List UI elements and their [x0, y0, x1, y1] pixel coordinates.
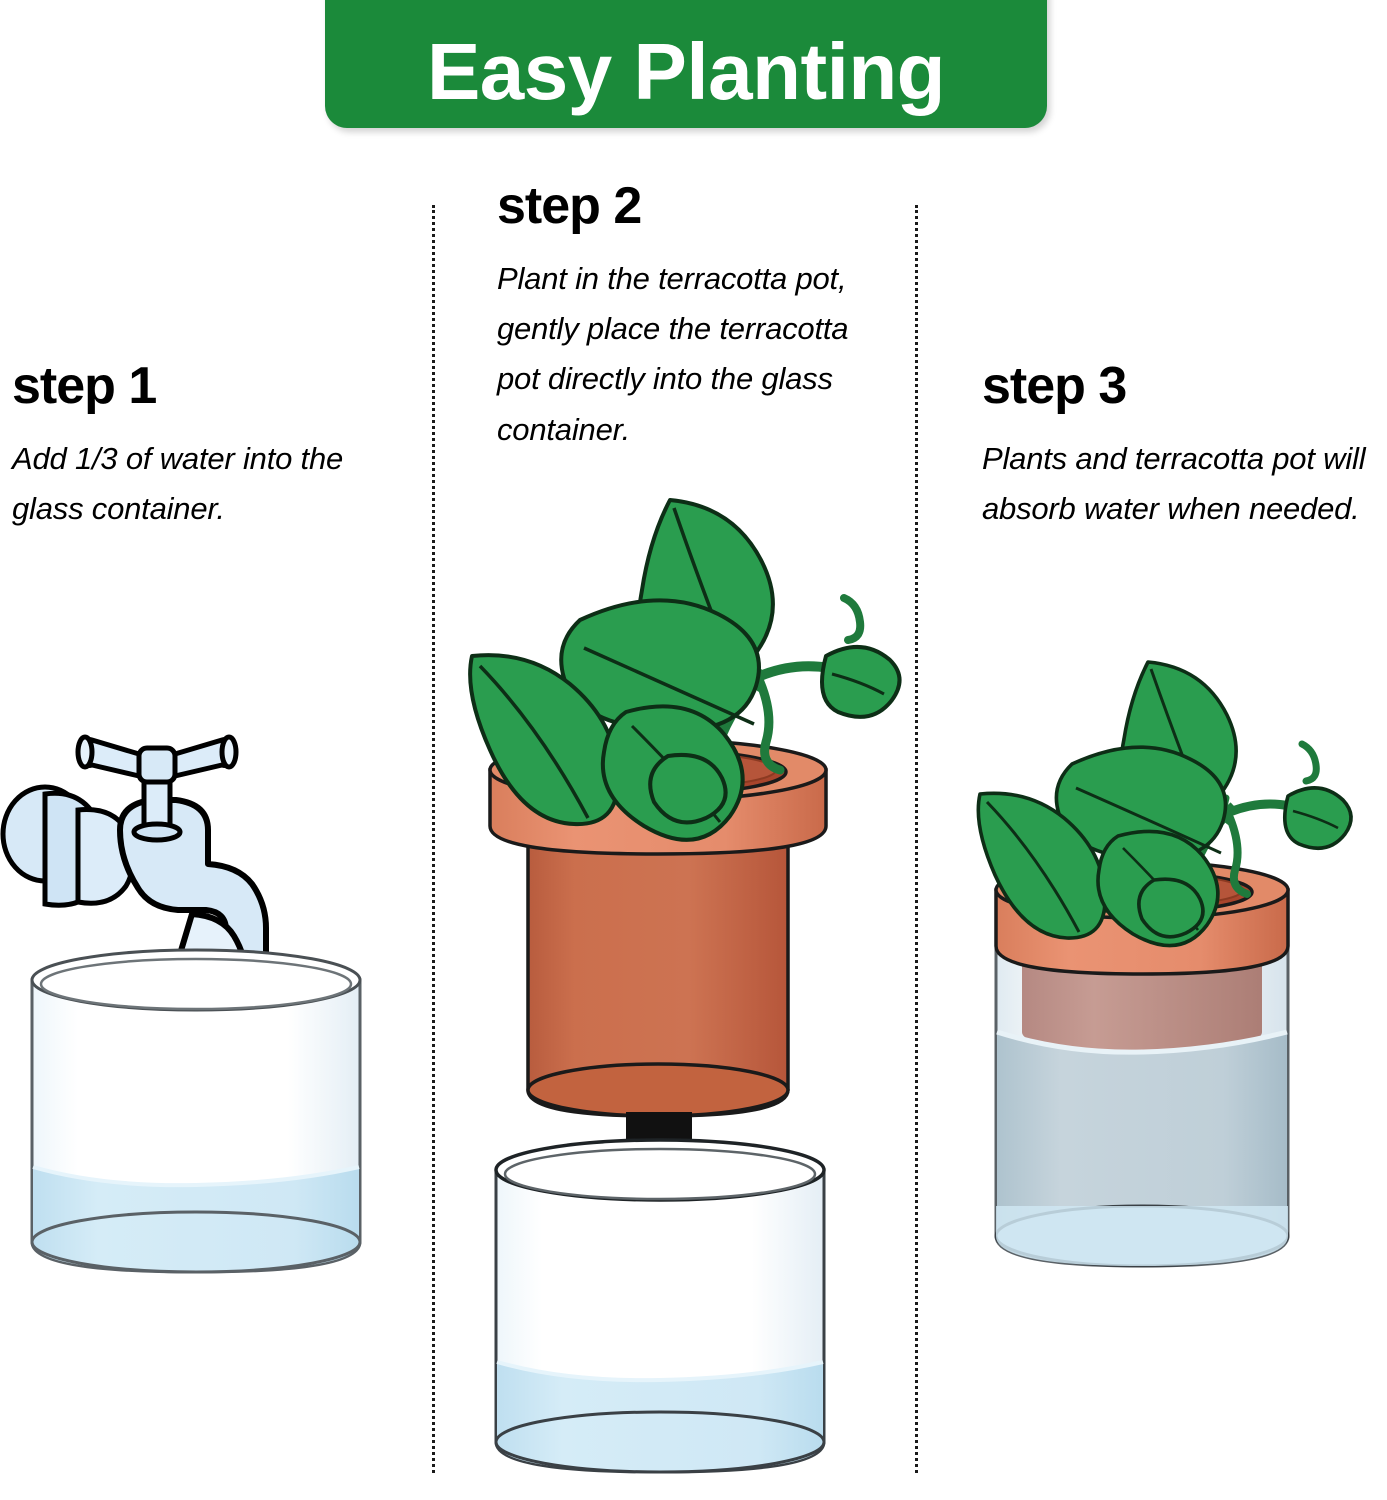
- step-3-illustration: [940, 640, 1380, 1320]
- step-3-heading: step 3: [982, 360, 1382, 412]
- glass-container: [496, 1140, 824, 1472]
- step-3-body: Plants and terracotta pot will absorb wa…: [982, 434, 1382, 534]
- page-title: Easy Planting: [427, 32, 945, 112]
- plant-leaves: [470, 500, 899, 840]
- glass-container: [32, 950, 360, 1272]
- step-1-illustration: [0, 690, 400, 1330]
- header-banner: Easy Planting: [325, 0, 1047, 128]
- column-divider-2: [915, 205, 918, 1473]
- step-3-block: step 3 Plants and terracotta pot will ab…: [982, 360, 1382, 534]
- step-1-body: Add 1/3 of water into the glass containe…: [12, 434, 402, 534]
- step-2-illustration: [460, 470, 900, 1500]
- step-1-heading: step 1: [12, 360, 402, 412]
- column-divider-1: [432, 205, 435, 1473]
- step-2-block: step 2 Plant in the terracotta pot, gent…: [497, 180, 897, 455]
- step-2-body: Plant in the terracotta pot, gently plac…: [497, 254, 897, 455]
- step-1-block: step 1 Add 1/3 of water into the glass c…: [12, 360, 402, 534]
- faucet-handle-icon: [78, 737, 236, 782]
- glass-container: [996, 940, 1288, 1266]
- plant-leaves: [978, 662, 1351, 946]
- step-2-heading: step 2: [497, 180, 897, 232]
